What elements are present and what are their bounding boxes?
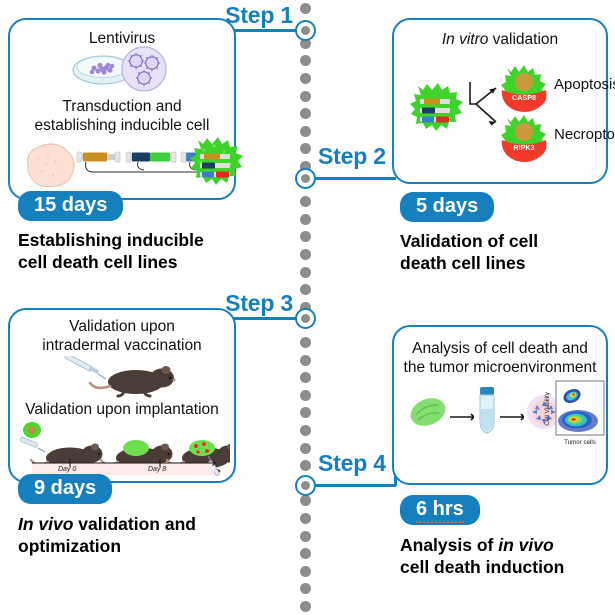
workflow-figure: Step 1 Step 2 Step 3 Step 4 Lentivirus bbox=[0, 0, 615, 615]
panel-3-title-line3: Validation upon implantation bbox=[18, 400, 226, 419]
panel-3-title-line1: Validation upon bbox=[18, 317, 226, 336]
caption-2-line1: Validation of cell bbox=[400, 231, 538, 251]
timeline-axis bbox=[300, 0, 312, 615]
timeline-dot bbox=[300, 355, 311, 366]
day-tick-8: Day 8 bbox=[148, 466, 166, 473]
green-transduced-cell-icon bbox=[188, 132, 244, 194]
panel-step-3[interactable]: Validation upon intradermal vaccination bbox=[8, 308, 236, 483]
duration-badge-step-2: 5 days bbox=[400, 192, 494, 222]
timeline-node-4[interactable] bbox=[295, 475, 316, 496]
duration-badge-step-4: 6 hrs bbox=[400, 495, 480, 525]
duration-badge-step-1: 15 days bbox=[18, 191, 123, 221]
caption-3-line2: optimization bbox=[18, 536, 121, 556]
timeline-dot bbox=[300, 91, 311, 102]
caption-4-prefix: Analysis of bbox=[400, 535, 498, 555]
timeline-dot bbox=[300, 495, 311, 506]
panel-2-title-italic: In vitro bbox=[442, 31, 489, 48]
svg-text:Cell Viability: Cell Viability bbox=[544, 391, 551, 425]
timeline-node-1[interactable] bbox=[295, 20, 316, 41]
connector-step-2 bbox=[304, 177, 396, 180]
day-tick-0: Day 0 bbox=[58, 466, 76, 473]
apoptosis-label: Apoptosis bbox=[554, 76, 615, 93]
timeline-dot bbox=[300, 55, 311, 66]
svg-text:Tumor cells: Tumor cells bbox=[564, 439, 596, 446]
branch-arrows-icon bbox=[464, 76, 500, 140]
timeline-dot bbox=[300, 548, 311, 559]
timeline-dot bbox=[300, 108, 311, 119]
caption-4-italic: in vivo bbox=[498, 535, 553, 555]
caption-3-rest: validation and bbox=[73, 514, 196, 534]
timeline-dot bbox=[300, 460, 311, 471]
timeline-dot bbox=[300, 443, 311, 454]
timeline-dot bbox=[300, 143, 311, 154]
timeline-dot bbox=[300, 601, 311, 612]
caption-2-line2: death cell lines bbox=[400, 253, 525, 273]
timeline-node-3[interactable] bbox=[295, 308, 316, 329]
panel-2-title: In vitro validation bbox=[402, 30, 598, 49]
timeline-dot bbox=[300, 566, 311, 577]
timeline-dot bbox=[300, 583, 311, 594]
panel-2-title-rest: validation bbox=[488, 31, 558, 48]
timeline-dot bbox=[300, 531, 311, 542]
intradermal-vaccination-illustration bbox=[62, 356, 190, 398]
apoptosis-cell-icon: CASP8 bbox=[498, 60, 550, 112]
caption-step-1: Establishing inducible cell death cell l… bbox=[18, 229, 288, 273]
caption-step-3: In vivo validation and optimization bbox=[18, 513, 288, 557]
duration-badge-step-4-text: 6 hrs bbox=[416, 498, 464, 523]
step-label-3: Step 3 bbox=[168, 290, 293, 317]
timeline-dot bbox=[300, 407, 311, 418]
step-label-4: Step 4 bbox=[318, 450, 443, 477]
panel-4-title-line2: the tumor microenvironment bbox=[402, 358, 598, 377]
step-label-2: Step 2 bbox=[318, 143, 443, 170]
panel-1-title-line2: Transduction and bbox=[18, 97, 226, 116]
timeline-dot bbox=[300, 513, 311, 524]
duration-badge-step-3: 9 days bbox=[18, 474, 112, 504]
timeline-dot bbox=[300, 284, 311, 295]
timeline-dot bbox=[300, 372, 311, 383]
virus-particle-icon bbox=[120, 46, 168, 92]
timeline-dot bbox=[300, 425, 311, 436]
timeline-dot bbox=[300, 267, 311, 278]
caption-4-line2: cell death induction bbox=[400, 557, 564, 577]
caption-step-2: Validation of cell death cell lines bbox=[400, 230, 610, 274]
panel-3-title-line2: intradermal vaccination bbox=[18, 336, 226, 355]
timeline-dot bbox=[300, 196, 311, 207]
timeline-dot bbox=[300, 249, 311, 260]
connector-step-4 bbox=[304, 484, 396, 487]
caption-1-line2: cell death cell lines bbox=[18, 252, 178, 272]
flow-plot-frame: Cell Viability Tumor cells bbox=[540, 379, 606, 449]
panel-4-title-line1: Analysis of cell death and bbox=[402, 339, 598, 358]
timeline-node-2[interactable] bbox=[295, 168, 316, 189]
step-label-1: Step 1 bbox=[168, 2, 293, 29]
timeline-dot bbox=[300, 231, 311, 242]
timeline-dot bbox=[300, 390, 311, 401]
timeline-dot bbox=[300, 126, 311, 137]
timeline-dot bbox=[300, 214, 311, 225]
caption-1-line1: Establishing inducible bbox=[18, 230, 204, 250]
timeline-dot bbox=[300, 337, 311, 348]
timeline-dot bbox=[300, 73, 311, 84]
engineered-cell-icon bbox=[408, 78, 464, 138]
day-timeline-bar: Day 0 Day 8 bbox=[32, 456, 220, 476]
caption-step-4: Analysis of in vivo cell death induction bbox=[400, 534, 610, 578]
svg-text:RIPK3: RIPK3 bbox=[513, 143, 534, 152]
pipeline-arrow-1-icon bbox=[450, 409, 474, 419]
tumor-sample-icon bbox=[408, 395, 448, 429]
svg-text:CASP8: CASP8 bbox=[512, 93, 536, 102]
necroptosis-label: Necroptosis bbox=[554, 126, 615, 143]
caption-3-italic: In vivo bbox=[18, 514, 73, 534]
panel-step-1[interactable]: Lentivirus bbox=[8, 18, 236, 200]
necroptosis-cell-icon: RIPK3 bbox=[498, 110, 550, 162]
collection-tube-icon bbox=[476, 387, 498, 437]
timeline-dot bbox=[300, 3, 311, 14]
